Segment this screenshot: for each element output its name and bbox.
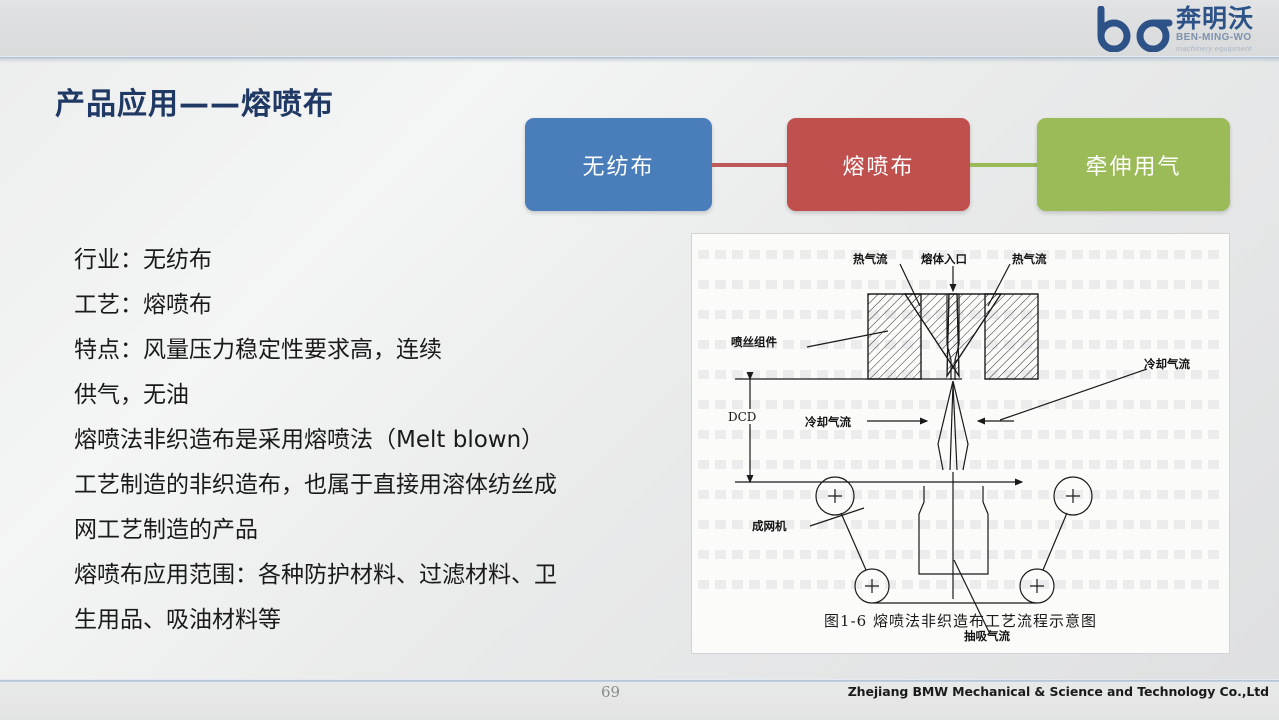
body-line: 供气，无油 (74, 373, 674, 418)
figure-label-melt-inlet: 熔体入口 (921, 251, 967, 267)
process-flow-diagram: 无纺布 熔喷布 牵伸用气 (525, 118, 1230, 218)
figure-label-hot-air-left: 热气流 (853, 251, 888, 267)
header-divider-shadow (0, 59, 1279, 63)
flow-box-meltblown[interactable]: 熔喷布 (787, 118, 970, 211)
figure-caption: 图1-6 熔喷法非织造布工艺流程示意图 (692, 610, 1229, 631)
flow-box-nonwoven[interactable]: 无纺布 (525, 118, 712, 211)
body-line: 熔喷布应用范围：各种防护材料、过滤材料、卫 (74, 553, 674, 598)
figure-label-cooling-air-center: 冷却气流 (805, 414, 851, 430)
body-line: 生用品、吸油材料等 (74, 598, 674, 643)
company-name: Zhejiang BMW Mechanical & Science and Te… (848, 684, 1269, 699)
figure-label-spinneret: 喷丝组件 (731, 334, 777, 350)
figure-label-hot-air-right: 热气流 (1012, 251, 1047, 267)
figure-label-web-former: 成网机 (752, 518, 787, 534)
page-title: 产品应用——熔喷布 (55, 79, 334, 123)
company-logo: 奔明沃 BEN-MING-WO machinery equipment (1095, 2, 1271, 56)
slide-canvas: 奔明沃 BEN-MING-WO machinery equipment 产品应用… (0, 0, 1279, 720)
figure-label-cooling-air-right: 冷却气流 (1144, 356, 1190, 372)
logo-text: 奔明沃 BEN-MING-WO machinery equipment (1176, 6, 1254, 53)
header-band (0, 0, 1279, 57)
meltblown-schematic-drawing (692, 234, 1229, 653)
flow-box-drawing-air[interactable]: 牵伸用气 (1037, 118, 1230, 211)
bo-monogram-logo-icon (1095, 6, 1173, 52)
logo-chinese-name: 奔明沃 (1176, 6, 1254, 31)
page-number: 69 (601, 683, 620, 701)
body-text-block: 行业：无纺布 工艺：熔喷布 特点：风量压力稳定性要求高，连续 供气，无油 熔喷法… (74, 238, 674, 643)
logo-romanized-name: BEN-MING-WO (1176, 33, 1254, 43)
logo-tagline: machinery equipment (1176, 45, 1254, 53)
flow-connector-1 (712, 163, 787, 167)
body-line: 行业：无纺布 (74, 238, 674, 283)
figure-label-dcd: DCD (728, 410, 756, 424)
body-line: 工艺制造的非织造布，也属于直接用溶体纺丝成 (74, 463, 674, 508)
process-figure-image: 热气流 熔体入口 热气流 喷丝组件 冷却气流 冷却气流 DCD 成网机 抽吸气流… (691, 233, 1230, 654)
body-line: 网工艺制造的产品 (74, 508, 674, 553)
body-line: 工艺：熔喷布 (74, 283, 674, 328)
body-line: 特点：风量压力稳定性要求高，连续 (74, 328, 674, 373)
flow-connector-2 (970, 163, 1037, 167)
body-line: 熔喷法非织造布是采用熔喷法（Melt blown） (74, 418, 674, 463)
